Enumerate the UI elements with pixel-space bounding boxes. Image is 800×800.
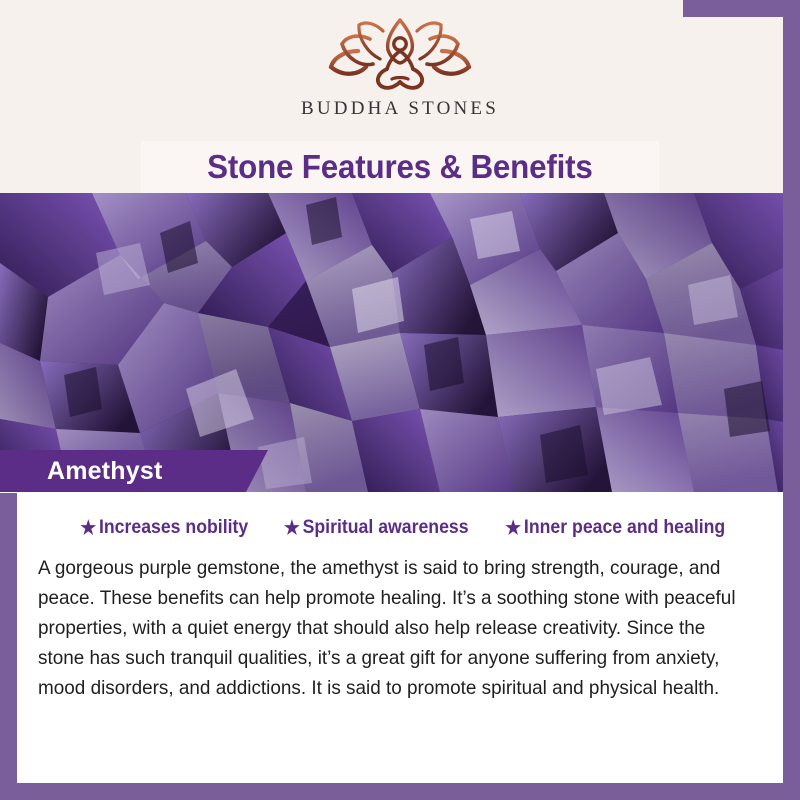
stone-name-label: Amethyst [47,457,163,486]
section-title-band: Stone Features & Benefits [141,141,659,193]
stone-name-banner: Amethyst [0,450,268,492]
brand-header: BUDDHA STONES [0,0,800,143]
star-icon: ★ [81,519,97,538]
lotus-meditation-figure-icon [325,17,475,95]
page-title: Stone Features & Benefits [207,148,592,186]
content-inner: ★ Increases nobility ★ Spiritual awarene… [17,492,783,783]
stone-content-area: ★ Increases nobility ★ Spiritual awarene… [0,492,800,800]
feature-label-2: Inner peace and healing [524,517,725,539]
feature-item-1: ★ Spiritual awareness [284,517,469,539]
feature-item-2: ★ Inner peace and healing [506,517,726,539]
star-icon: ★ [506,519,522,538]
product-infographic-card: BUDDHA STONES Stone Features & Benefits [0,0,800,800]
stone-description: A gorgeous purple gemstone, the amethyst… [38,553,741,703]
feature-item-0: ★ Increases nobility [81,517,249,539]
star-icon: ★ [284,519,300,538]
feature-label-0: Increases nobility [99,517,248,539]
amethyst-crystal-cluster-photo [0,193,800,492]
feature-label-1: Spiritual awareness [302,517,468,539]
stone-photo [0,193,800,492]
brand-wordmark: BUDDHA STONES [301,98,499,120]
stone-features-list: ★ Increases nobility ★ Spiritual awarene… [17,492,783,539]
